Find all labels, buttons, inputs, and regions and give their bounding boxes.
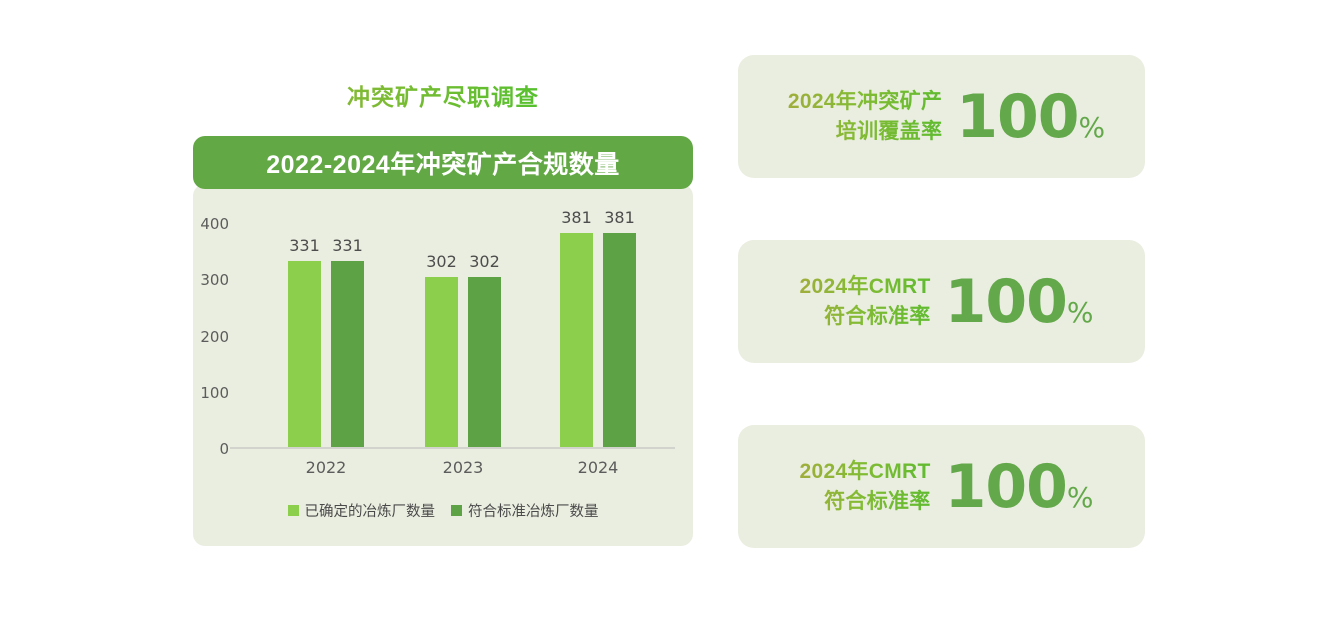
legend-item-conformant[interactable]: 符合标准冶炼厂数量: [451, 500, 599, 521]
bar-label-2023-conformant: 302: [469, 252, 500, 271]
stat-card-number: 100: [956, 87, 1078, 147]
bar-label-2022-identified: 331: [289, 236, 320, 255]
stat-card-label: 2024年CMRT 符合标准率: [800, 457, 931, 517]
stat-card-number: 100: [945, 457, 1067, 517]
chart-panel: 400 300 200 100 0 331 331: [193, 184, 693, 546]
legend-item-identified[interactable]: 已确定的冶炼厂数量: [288, 500, 436, 521]
bar-group-2022: 331 331: [266, 261, 386, 447]
stat-card-label: 2024年冲突矿产 培训覆盖率: [788, 87, 942, 147]
y-axis-tick-400: 400: [200, 215, 229, 233]
chart-header-title: 2022-2024年冲突矿产合规数量: [266, 145, 620, 181]
stat-card-training-coverage: 2024年冲突矿产 培训覆盖率 100 %: [738, 55, 1145, 178]
chart-legend: 已确定的冶炼厂数量 符合标准冶炼厂数量: [193, 500, 693, 521]
legend-label-conformant: 符合标准冶炼厂数量: [468, 500, 599, 521]
bar-label-2024-conformant: 381: [604, 208, 635, 227]
stat-card-cmrt-conformance-1: 2024年CMRT 符合标准率 100 %: [738, 240, 1145, 363]
legend-swatch-icon-identified: [288, 505, 299, 516]
y-axis-tick-0: 0: [219, 440, 229, 458]
stat-card-cmrt-conformance-2: 2024年CMRT 符合标准率 100 %: [738, 425, 1145, 548]
stat-card-label: 2024年CMRT 符合标准率: [800, 272, 931, 332]
stat-card-unit: %: [1067, 481, 1094, 514]
bar-2023-identified[interactable]: 302: [425, 277, 458, 447]
y-axis-tick-300: 300: [200, 271, 229, 289]
bar-2022-identified[interactable]: 331: [288, 261, 321, 447]
bar-label-2022-conformant: 331: [332, 236, 363, 255]
y-axis-tick-200: 200: [200, 328, 229, 346]
chart-card: 2022-2024年冲突矿产合规数量 400 300 200 100 0 331…: [193, 136, 693, 550]
stat-card-number: 100: [945, 272, 1067, 332]
legend-swatch-icon-conformant: [451, 505, 462, 516]
chart-section-title: 冲突矿产尽职调查: [193, 78, 693, 112]
stat-card-unit: %: [1079, 111, 1106, 144]
bar-group-2024: 381 381: [538, 233, 658, 447]
x-axis-tick-2022: 2022: [266, 458, 386, 477]
bar-label-2023-identified: 302: [426, 252, 457, 271]
x-axis-tick-2023: 2023: [403, 458, 523, 477]
chart-header-bar: 2022-2024年冲突矿产合规数量: [193, 136, 693, 189]
y-axis-tick-100: 100: [200, 384, 229, 402]
stat-card-value: 100 %: [945, 457, 1094, 517]
bar-group-2023: 302 302: [403, 277, 523, 447]
bar-2023-conformant[interactable]: 302: [468, 277, 501, 447]
stat-card-value: 100 %: [956, 87, 1105, 147]
conflict-minerals-chart-block: 冲突矿产尽职调查 2022-2024年冲突矿产合规数量 400 300 200 …: [193, 78, 693, 550]
stat-card-unit: %: [1067, 296, 1094, 329]
bar-chart-plot-area: 400 300 200 100 0 331 331: [238, 224, 675, 449]
legend-label-identified: 已确定的冶炼厂数量: [305, 500, 436, 521]
x-axis-line: [230, 447, 675, 449]
bar-2024-conformant[interactable]: 381: [603, 233, 636, 447]
x-axis-tick-2024: 2024: [538, 458, 658, 477]
bar-label-2024-identified: 381: [561, 208, 592, 227]
stat-card-value: 100 %: [945, 272, 1094, 332]
bar-2024-identified[interactable]: 381: [560, 233, 593, 447]
bar-2022-conformant[interactable]: 331: [331, 261, 364, 447]
